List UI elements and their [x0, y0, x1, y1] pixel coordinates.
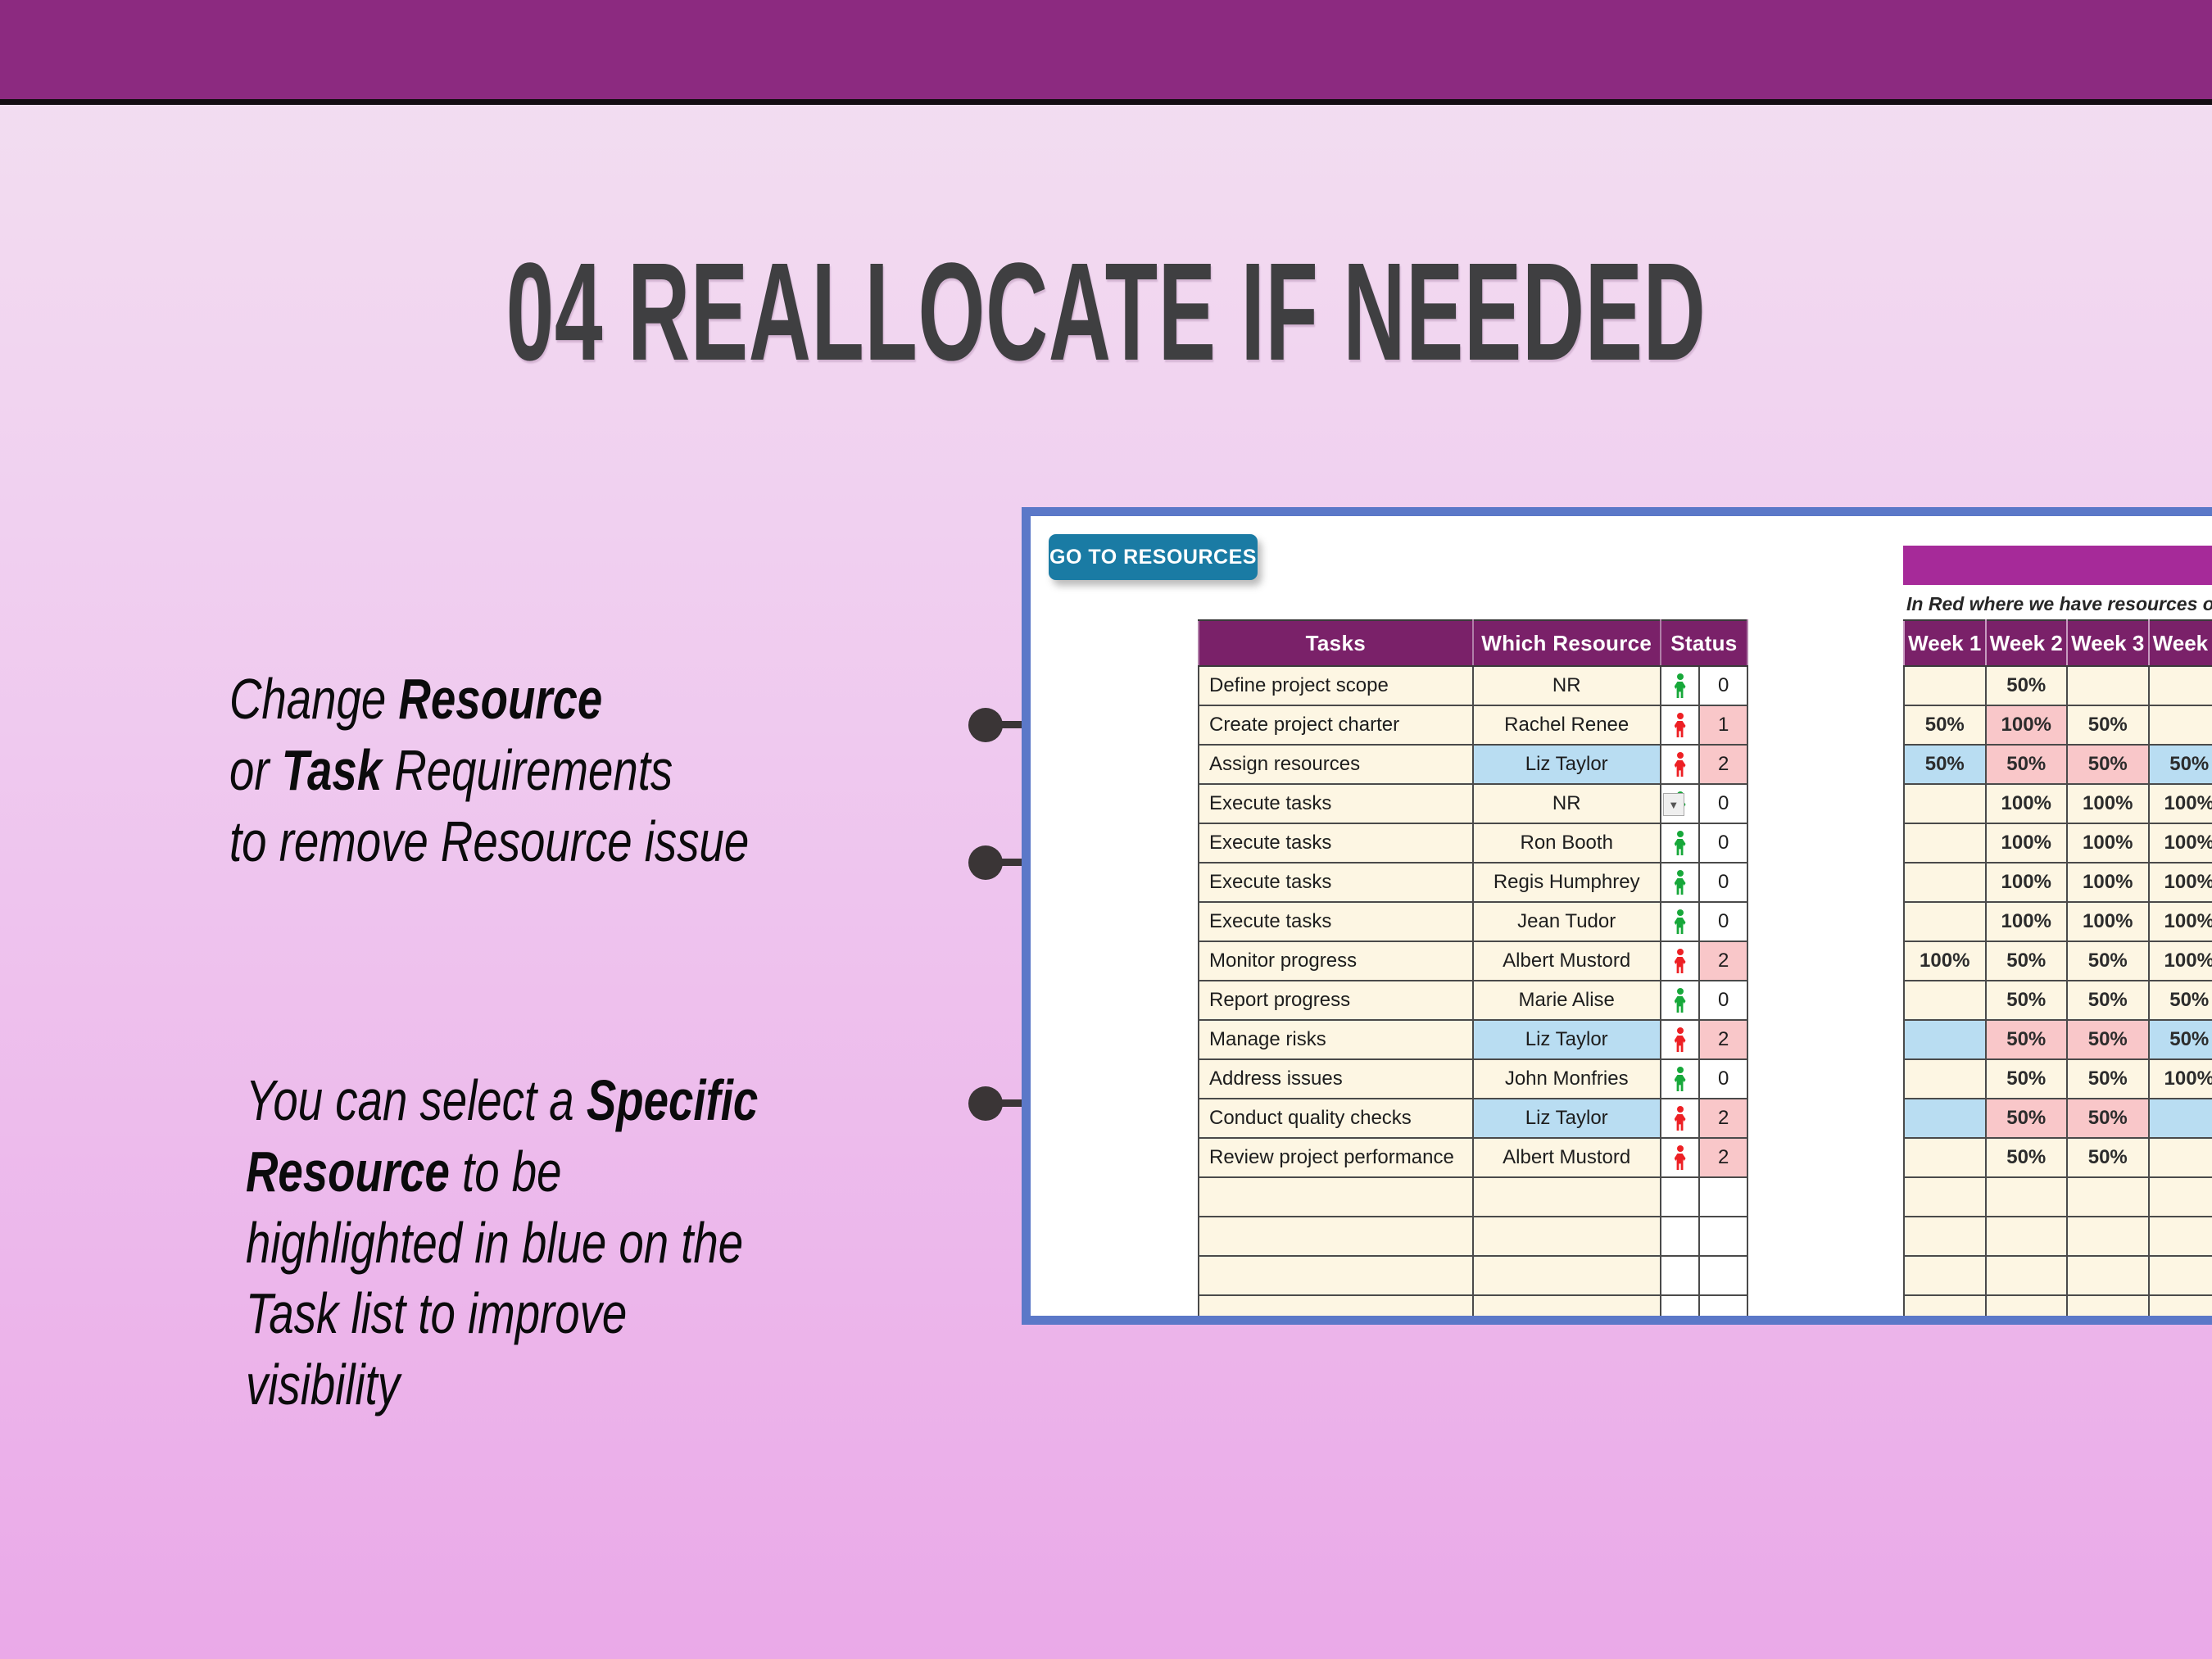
cell-allocation[interactable]	[1904, 784, 1986, 823]
cell-task[interactable]: Report progress	[1199, 981, 1473, 1020]
weeks-table-row[interactable]: 50%50%50%	[1904, 981, 2212, 1020]
table-row[interactable]: Create project charterRachel Renee1	[1199, 705, 1747, 745]
cell-resource[interactable]	[1473, 1295, 1661, 1325]
column-header-week-1: Week 1	[1904, 620, 1986, 666]
spreadsheet-panel: GO TO RESOURCES Tasks Which Resource Sta…	[1022, 507, 2212, 1325]
cell-status-count: 0	[1699, 902, 1747, 941]
person-green-icon	[1674, 831, 1687, 855]
cell-allocation[interactable]	[2067, 666, 2149, 705]
cell-allocation[interactable]: 50%	[2067, 1138, 2149, 1177]
column-header-tasks: Tasks	[1199, 620, 1473, 666]
cell-status-icon	[1661, 823, 1700, 863]
cell-resource[interactable]: Albert Mustord	[1473, 941, 1661, 981]
cell-task[interactable]: Review project performance	[1199, 1138, 1473, 1177]
cell-allocation[interactable]: 50%	[1986, 1020, 2068, 1059]
weeks-table: Week 1 Week 2 Week 3 Week 4 50%50%100%50…	[1903, 619, 2212, 1325]
person-red-icon	[1674, 1027, 1687, 1052]
person-red-icon	[1674, 752, 1687, 777]
cell-allocation[interactable]	[2149, 1099, 2212, 1138]
table-row[interactable]	[1199, 1217, 1747, 1256]
cell-allocation[interactable]: 100%	[1986, 784, 2068, 823]
cell-resource[interactable]: Ron Booth	[1473, 823, 1661, 863]
cell-status-count	[1699, 1295, 1747, 1325]
cell-task[interactable]	[1199, 1295, 1473, 1325]
cell-allocation[interactable]: 50%	[2067, 705, 2149, 745]
cell-task[interactable]: Monitor progress	[1199, 941, 1473, 981]
cell-allocation[interactable]: 50%	[2067, 745, 2149, 784]
column-header-week-4: Week 4	[2149, 620, 2212, 666]
cell-task[interactable]	[1199, 1217, 1473, 1256]
person-green-icon	[1674, 870, 1687, 895]
top-purple-band	[0, 0, 2212, 105]
table-row[interactable]: Execute tasksRon Booth0	[1199, 823, 1747, 863]
person-green-icon	[1674, 673, 1687, 698]
cell-allocation[interactable]: 50%	[1986, 941, 2068, 981]
cell-allocation[interactable]	[1986, 1295, 2068, 1325]
cell-status-icon	[1661, 941, 1700, 981]
cell-resource[interactable]	[1473, 1256, 1661, 1295]
cell-allocation[interactable]: 100%	[1986, 863, 2068, 902]
cell-allocation[interactable]: 50%	[1986, 745, 2068, 784]
cell-task[interactable]: Execute tasks	[1199, 823, 1473, 863]
cell-status-icon	[1661, 666, 1700, 705]
cell-status-icon	[1661, 1059, 1700, 1099]
callout-select-specific-resource: You can select a Specific Resource to be…	[246, 1065, 936, 1421]
callout-text: Change	[229, 667, 398, 731]
cell-status-count: 0	[1699, 666, 1747, 705]
weeks-table-header-row: Week 1 Week 2 Week 3 Week 4	[1904, 620, 2212, 666]
cell-resource[interactable]: NR	[1473, 666, 1661, 705]
cell-allocation[interactable]	[1904, 1295, 1986, 1325]
cell-allocation[interactable]	[1904, 1256, 1986, 1295]
person-red-icon	[1674, 1145, 1687, 1170]
cell-task[interactable]	[1199, 1256, 1473, 1295]
cell-allocation[interactable]: 50%	[2067, 1059, 2149, 1099]
table-row[interactable]: Assign resourcesLiz Taylor2	[1199, 745, 1747, 784]
cell-allocation[interactable]: 50%	[2067, 981, 2149, 1020]
callout-emphasis: Resource	[398, 667, 602, 731]
cell-task[interactable]: Create project charter	[1199, 705, 1473, 745]
table-row[interactable]: Report progressMarie Alise0	[1199, 981, 1747, 1020]
cell-allocation[interactable]: 100%	[2067, 902, 2149, 941]
table-row[interactable]: Monitor progressAlbert Mustord2	[1199, 941, 1747, 981]
cell-status-count: 2	[1699, 1020, 1747, 1059]
cell-allocation[interactable]	[1904, 666, 1986, 705]
cell-status-count	[1699, 1217, 1747, 1256]
cell-allocation[interactable]: 50%	[2149, 745, 2212, 784]
cell-allocation[interactable]	[2067, 1177, 2149, 1217]
table-row[interactable]: Execute tasksRegis Humphrey0	[1199, 863, 1747, 902]
cell-allocation[interactable]	[2149, 705, 2212, 745]
cell-status-count: 0	[1699, 823, 1747, 863]
cell-status-count: 2	[1699, 1099, 1747, 1138]
cell-allocation[interactable]	[1904, 981, 1986, 1020]
weeks-table-row[interactable]	[1904, 1295, 2212, 1325]
cell-allocation[interactable]: 50%	[1904, 745, 1986, 784]
weeks-table-row[interactable]: 50%100%50%	[1904, 705, 2212, 745]
weeks-table-row[interactable]: 100%100%100%	[1904, 902, 2212, 941]
table-row[interactable]: Execute tasksNR▼0	[1199, 784, 1747, 823]
cell-allocation[interactable]	[1986, 1177, 2068, 1217]
weeks-table-row[interactable]	[1904, 1256, 2212, 1295]
cell-allocation[interactable]	[1986, 1217, 2068, 1256]
cell-allocation[interactable]: 100%	[1904, 941, 1986, 981]
cell-allocation[interactable]: 50%	[2067, 1099, 2149, 1138]
cell-allocation[interactable]	[1904, 863, 1986, 902]
cell-resource[interactable]: Albert Mustord	[1473, 1138, 1661, 1177]
table-row[interactable]	[1199, 1256, 1747, 1295]
cell-allocation[interactable]: 50%	[1986, 1138, 2068, 1177]
cell-allocation[interactable]	[1986, 1256, 2068, 1295]
cell-allocation[interactable]: 100%	[1986, 823, 2068, 863]
cell-allocation[interactable]	[2067, 1217, 2149, 1256]
cell-resource[interactable]: Regis Humphrey	[1473, 863, 1661, 902]
weeks-table-body: 50%50%100%50%50%50%50%50%100%100%100%100…	[1904, 666, 2212, 1325]
cell-allocation[interactable]: 50%	[1986, 981, 2068, 1020]
go-to-resources-button[interactable]: GO TO RESOURCES	[1049, 534, 1258, 580]
person-red-icon	[1674, 1106, 1687, 1131]
cell-resource[interactable]: NR	[1473, 784, 1661, 823]
cell-allocation[interactable]: 50%	[2149, 981, 2212, 1020]
callout-text: or	[229, 738, 282, 802]
cell-allocation[interactable]: 50%	[1986, 1059, 2068, 1099]
person-green-icon	[1674, 909, 1687, 934]
cell-status-icon	[1661, 1256, 1700, 1295]
column-header-which-resource: Which Resource	[1473, 620, 1661, 666]
cell-task[interactable]: Execute tasks	[1199, 863, 1473, 902]
person-red-icon	[1674, 949, 1687, 973]
cell-allocation[interactable]	[1904, 902, 1986, 941]
cell-resource[interactable]: Marie Alise	[1473, 981, 1661, 1020]
person-green-icon	[1674, 1067, 1687, 1091]
cell-resource[interactable]	[1473, 1177, 1661, 1217]
cell-task[interactable]: Execute tasks	[1199, 784, 1473, 823]
table-row[interactable]	[1199, 1295, 1747, 1325]
cell-status-count: 0	[1699, 1059, 1747, 1099]
cell-status-count: 2	[1699, 941, 1747, 981]
cell-resource[interactable]: Liz Taylor	[1473, 745, 1661, 784]
cell-allocation[interactable]	[1904, 1217, 1986, 1256]
cell-allocation[interactable]	[2149, 1256, 2212, 1295]
callout-text: You can select a	[246, 1068, 587, 1132]
cell-status-icon	[1661, 745, 1700, 784]
cell-allocation[interactable]: 100%	[2149, 1059, 2212, 1099]
cell-allocation[interactable]: 100%	[1986, 902, 2068, 941]
weeks-table-row[interactable]: 50%	[1904, 666, 2212, 705]
cell-resource[interactable]: John Monfries	[1473, 1059, 1661, 1099]
cell-allocation[interactable]	[2149, 1295, 2212, 1325]
cell-allocation[interactable]: 50%	[2067, 941, 2149, 981]
task-table-body: Define project scopeNR0Create project ch…	[1199, 666, 1747, 1325]
cell-status-count: 0	[1699, 784, 1747, 823]
cell-allocation[interactable]	[1904, 1177, 1986, 1217]
table-row[interactable]: Define project scopeNR0	[1199, 666, 1747, 705]
cell-allocation[interactable]	[2149, 1138, 2212, 1177]
cell-status-icon	[1661, 1138, 1700, 1177]
cell-allocation[interactable]: 100%	[1986, 705, 2068, 745]
callout-emphasis: Resource	[246, 1140, 450, 1203]
chevron-down-icon[interactable]: ▼	[1663, 793, 1684, 816]
person-green-icon	[1674, 988, 1687, 1013]
cell-task[interactable]: Conduct quality checks	[1199, 1099, 1473, 1138]
weeks-table-row[interactable]: 100%100%100%	[1904, 823, 2212, 863]
cell-status-icon	[1661, 1020, 1700, 1059]
page-title: 04 REALLOCATE IF NEEDED	[420, 232, 1792, 392]
weeks-table-row[interactable]: 50%50%	[1904, 1099, 2212, 1138]
cell-allocation[interactable]	[1904, 1138, 1986, 1177]
cell-allocation[interactable]	[2149, 666, 2212, 705]
cell-allocation[interactable]	[2067, 1295, 2149, 1325]
cell-resource[interactable]	[1473, 1217, 1661, 1256]
cell-allocation[interactable]	[1904, 1020, 1986, 1059]
cell-resource[interactable]: Liz Taylor	[1473, 1020, 1661, 1059]
cell-task[interactable]: Address issues	[1199, 1059, 1473, 1099]
weeks-table-row[interactable]: 50%50%50%50%	[1904, 745, 2212, 784]
cell-status-icon	[1661, 1217, 1700, 1256]
cell-status-icon	[1661, 1099, 1700, 1138]
cell-allocation[interactable]	[1904, 1059, 1986, 1099]
cell-allocation[interactable]: 100%	[2149, 902, 2212, 941]
cell-allocation[interactable]	[2067, 1256, 2149, 1295]
cell-allocation[interactable]: 50%	[1986, 1099, 2068, 1138]
cell-task[interactable]: Assign resources	[1199, 745, 1473, 784]
cell-resource[interactable]: Liz Taylor	[1473, 1099, 1661, 1138]
cell-status-count: 1	[1699, 705, 1747, 745]
weeks-note: In Red where we have resources overalloc…	[1906, 593, 2212, 615]
cell-allocation[interactable]: 50%	[2149, 1020, 2212, 1059]
cell-allocation[interactable]	[2149, 1217, 2212, 1256]
cell-allocation[interactable]	[1904, 1099, 1986, 1138]
cell-allocation[interactable]: 100%	[2067, 863, 2149, 902]
cell-status-icon	[1661, 863, 1700, 902]
cell-allocation[interactable]: 100%	[2149, 863, 2212, 902]
callout-emphasis: Specific	[587, 1068, 758, 1132]
cell-task[interactable]: Define project scope	[1199, 666, 1473, 705]
cell-resource[interactable]: Rachel Renee	[1473, 705, 1661, 745]
weeks-table-row[interactable]: 100%50%50%100%	[1904, 941, 2212, 981]
cell-status-icon	[1661, 1295, 1700, 1325]
cell-task[interactable]: Manage risks	[1199, 1020, 1473, 1059]
cell-resource[interactable]: Jean Tudor	[1473, 902, 1661, 941]
weeks-table-row[interactable]: 100%100%100%	[1904, 784, 2212, 823]
cell-allocation[interactable]: 50%	[1904, 705, 1986, 745]
weeks-table-row[interactable]: 50%50%100%	[1904, 1059, 2212, 1099]
column-header-status: Status	[1661, 620, 1747, 666]
cell-allocation[interactable]	[1904, 823, 1986, 863]
weeks-table-row[interactable]	[1904, 1217, 2212, 1256]
cell-task[interactable]	[1199, 1177, 1473, 1217]
cell-allocation[interactable]: 100%	[2067, 784, 2149, 823]
table-row[interactable]: Address issuesJohn Monfries0	[1199, 1059, 1747, 1099]
weeks-table-row[interactable]: 50%50%	[1904, 1138, 2212, 1177]
weeks-table-row[interactable]	[1904, 1177, 2212, 1217]
cell-status-icon: ▼	[1661, 784, 1700, 823]
task-table-header-row: Tasks Which Resource Status	[1199, 620, 1747, 666]
callout-change-resource: Change Resource or Task Requirements to …	[229, 664, 932, 877]
table-row[interactable]: Manage risksLiz Taylor2	[1199, 1020, 1747, 1059]
cell-allocation[interactable]: 50%	[2067, 1020, 2149, 1059]
cell-allocation[interactable]	[2149, 1177, 2212, 1217]
cell-status-icon	[1661, 981, 1700, 1020]
cell-status-count: 0	[1699, 981, 1747, 1020]
cell-status-count	[1699, 1256, 1747, 1295]
table-row[interactable]	[1199, 1177, 1747, 1217]
cell-status-count: 2	[1699, 1138, 1747, 1177]
column-header-week-3: Week 3	[2067, 620, 2149, 666]
cell-status-count: 0	[1699, 863, 1747, 902]
cell-allocation[interactable]: 100%	[2149, 941, 2212, 981]
column-header-week-2: Week 2	[1986, 620, 2068, 666]
cell-status-icon	[1661, 1177, 1700, 1217]
cell-task[interactable]: Execute tasks	[1199, 902, 1473, 941]
cell-allocation[interactable]: 100%	[2149, 784, 2212, 823]
cell-allocation[interactable]: 50%	[1986, 666, 2068, 705]
cell-status-count: 2	[1699, 745, 1747, 784]
cell-status-icon	[1661, 705, 1700, 745]
table-row[interactable]: Execute tasksJean Tudor0	[1199, 902, 1747, 941]
weeks-table-row[interactable]: 50%50%50%	[1904, 1020, 2212, 1059]
task-table: Tasks Which Resource Status Define proje…	[1198, 619, 1748, 1325]
cell-allocation[interactable]: 100%	[2067, 823, 2149, 863]
cell-status-count	[1699, 1177, 1747, 1217]
table-row[interactable]: Conduct quality checksLiz Taylor2	[1199, 1099, 1747, 1138]
weeks-banner	[1903, 546, 2212, 585]
table-row[interactable]: Review project performanceAlbert Mustord…	[1199, 1138, 1747, 1177]
callout-emphasis: Task	[282, 738, 382, 802]
cell-allocation[interactable]: 100%	[2149, 823, 2212, 863]
cell-status-icon	[1661, 902, 1700, 941]
weeks-table-row[interactable]: 100%100%100%	[1904, 863, 2212, 902]
person-red-icon	[1674, 713, 1687, 737]
